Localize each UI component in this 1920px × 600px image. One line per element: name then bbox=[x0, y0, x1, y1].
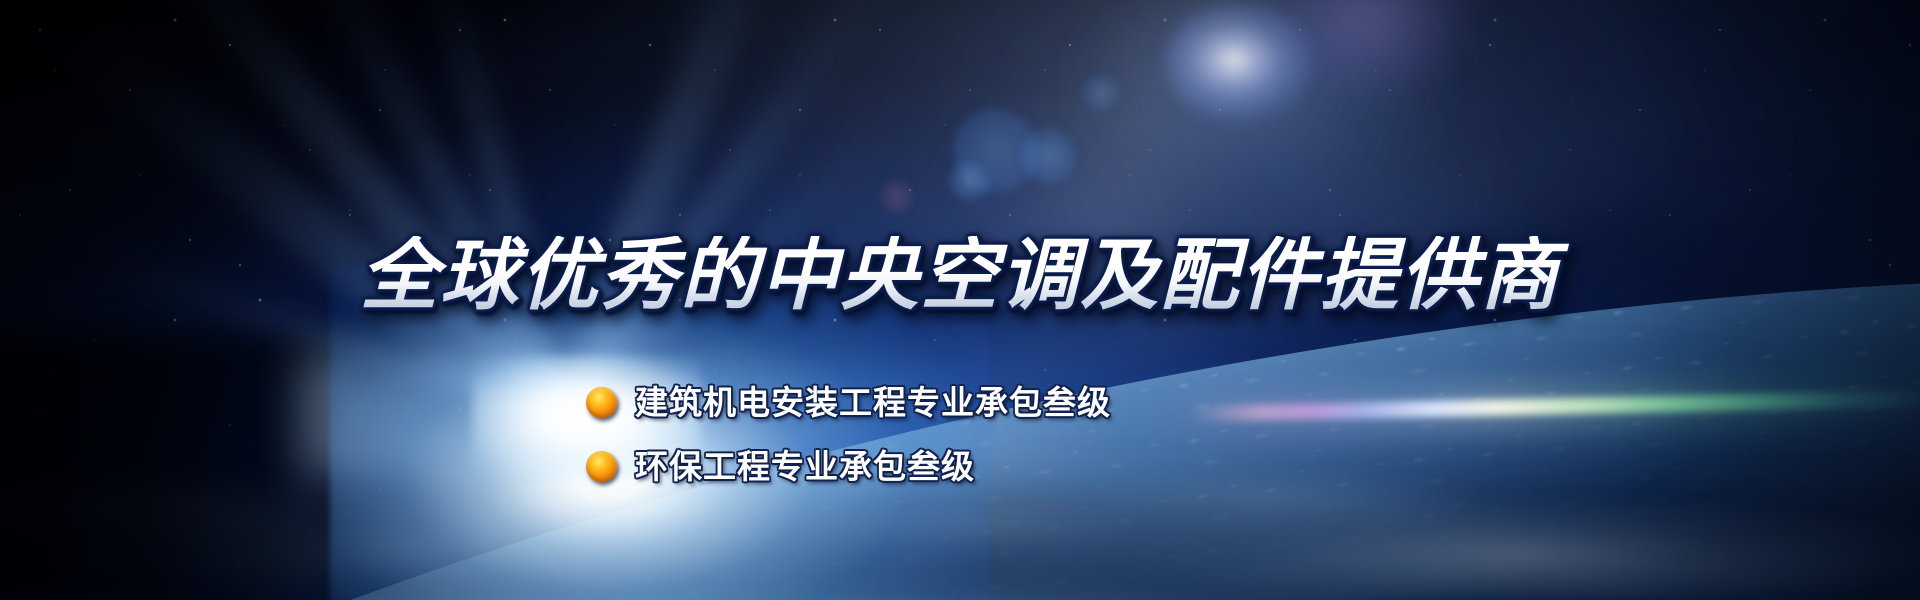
banner-content: 全球优秀的中央空调及配件提供商 建筑机电安装工程专业承包叁级 环保工程专业承包叁… bbox=[0, 0, 1920, 600]
list-item: 环保工程专业承包叁级 bbox=[586, 445, 1111, 487]
orange-sphere-bullet-icon bbox=[586, 451, 617, 482]
orange-sphere-bullet-icon bbox=[586, 387, 617, 418]
feature-label: 建筑机电安装工程专业承包叁级 bbox=[635, 386, 1111, 419]
banner-feature-list: 建筑机电安装工程专业承包叁级 环保工程专业承包叁级 bbox=[586, 381, 1111, 509]
banner-headline: 全球优秀的中央空调及配件提供商 bbox=[0, 236, 1920, 314]
hero-banner: 全球优秀的中央空调及配件提供商 建筑机电安装工程专业承包叁级 环保工程专业承包叁… bbox=[0, 0, 1920, 600]
feature-label: 环保工程专业承包叁级 bbox=[635, 450, 975, 483]
list-item: 建筑机电安装工程专业承包叁级 bbox=[586, 381, 1111, 423]
